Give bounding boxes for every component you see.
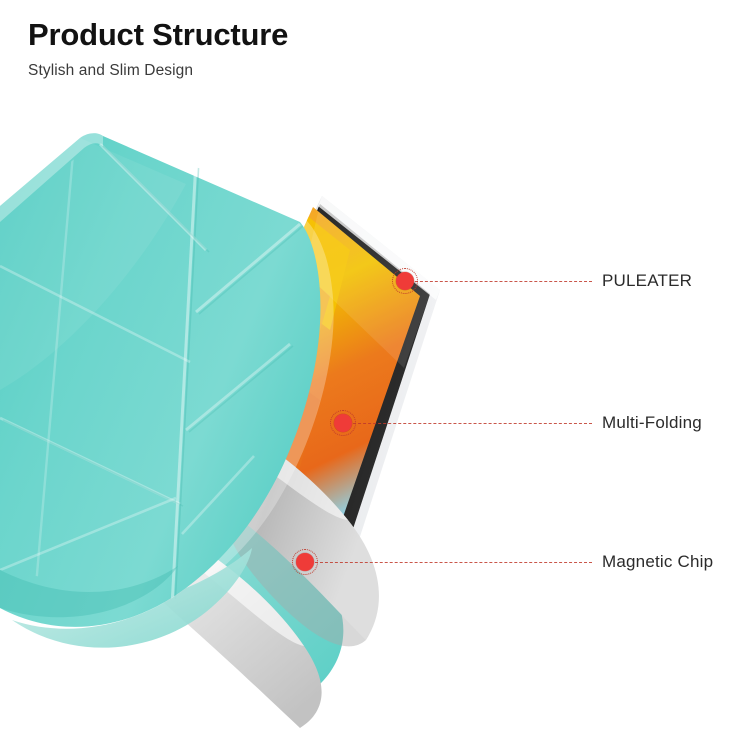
marker-dot-icon: [334, 414, 352, 432]
page-title: Product Structure: [28, 18, 288, 53]
callout-label-magnetic-chip: Magnetic Chip: [602, 552, 713, 572]
callout-label-multi-folding: Multi-Folding: [602, 413, 702, 433]
callout-label-pu-leather: PULEATER: [602, 271, 692, 291]
infographic-canvas: Product Structure Stylish and Slim Desig…: [0, 0, 750, 750]
leader-line-magnetic-chip: [305, 562, 592, 563]
header-block: Product Structure Stylish and Slim Desig…: [28, 18, 288, 80]
leader-line-multi-folding: [343, 423, 592, 424]
marker-dot-icon: [296, 553, 314, 571]
marker-dot-icon: [396, 272, 414, 290]
marker-magnetic-chip[interactable]: [292, 549, 318, 575]
marker-pu-leather[interactable]: [392, 268, 418, 294]
leader-line-pu-leather: [405, 281, 592, 282]
product-illustration: [0, 100, 600, 750]
marker-multi-folding[interactable]: [330, 410, 356, 436]
page-subtitle: Stylish and Slim Design: [28, 62, 288, 80]
